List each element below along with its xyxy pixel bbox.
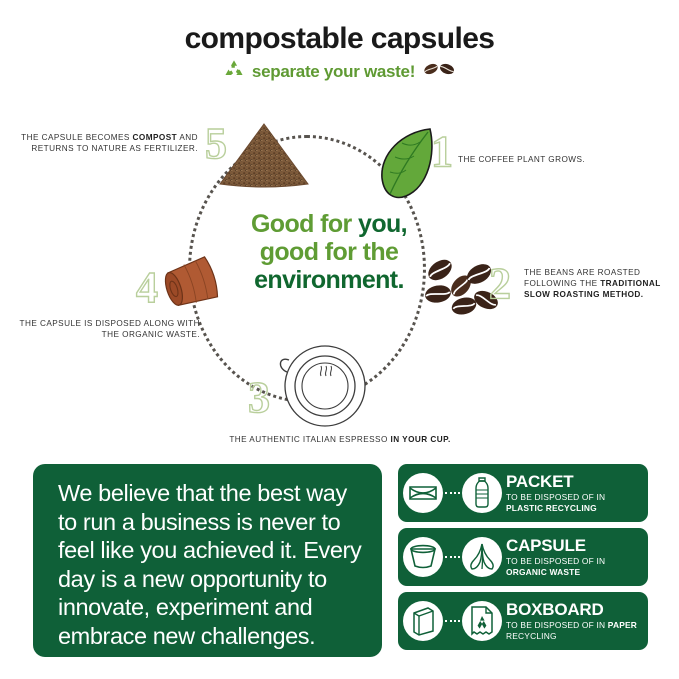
plastic-bottle-icon — [462, 473, 502, 513]
compost-mound-icon — [218, 122, 310, 193]
step-number-3: 3 — [248, 372, 270, 423]
header-subtitle-row: separate your waste! — [0, 59, 679, 84]
slogan-line3: environment. — [254, 266, 404, 294]
recycle-icon — [223, 59, 245, 84]
step-1-text: THE COFFEE PLANT GROWS. — [458, 154, 648, 165]
coffee-capsule-icon — [403, 537, 443, 577]
capsule-icon-pair — [398, 537, 506, 577]
slogan-line1-part2: you, — [358, 210, 407, 238]
center-slogan: Good for you, good for the environment. — [236, 210, 422, 294]
espresso-cup-icon — [275, 338, 371, 435]
page-title: compostable capsules — [0, 22, 679, 56]
capsule-title: CAPSULE — [506, 537, 642, 554]
step-3-text: THE AUTHENTIC ITALIAN ESPRESSO IN YOUR C… — [190, 434, 490, 445]
step-number-2: 2 — [489, 258, 511, 309]
leaf-icon — [376, 126, 438, 207]
dashed-connector — [445, 556, 460, 558]
packet-icon-pair — [398, 473, 506, 513]
header: compostable capsules separate your waste… — [0, 22, 679, 84]
capsule-subtitle: TO BE DISPOSED OF IN ORGANIC WASTE — [506, 556, 642, 577]
dashed-connector — [445, 620, 460, 622]
quote-panel: We believe that the best way to run a bu… — [33, 464, 382, 657]
banana-peel-icon — [462, 537, 502, 577]
slogan-line2: good for the — [260, 238, 399, 266]
coffee-capsule-icon — [160, 252, 224, 319]
slogan-line1-part1: Good for — [251, 210, 358, 238]
boxboard-icon-pair — [398, 601, 506, 641]
step-number-1: 1 — [431, 126, 453, 177]
disposal-card-packet[interactable]: PACKET TO BE DISPOSED OF IN PLASTIC RECY… — [398, 464, 648, 522]
step-number-5: 5 — [205, 118, 227, 169]
packet-title: PACKET — [506, 473, 642, 490]
capsule-card-text: CAPSULE TO BE DISPOSED OF IN ORGANIC WAS… — [506, 537, 648, 577]
quote-text: We believe that the best way to run a bu… — [58, 479, 363, 650]
boxboard-title: BOXBOARD — [506, 601, 642, 618]
lifecycle-diagram: Good for you, good for the environment. … — [0, 100, 679, 455]
infographic-page: compostable capsules separate your waste… — [0, 0, 679, 679]
step-2-text: THE BEANS ARE ROASTED FOLLOWING THE TRAD… — [524, 267, 674, 300]
step-5-text: THE CAPSULE BECOMES COMPOST AND RETURNS … — [18, 132, 198, 154]
boxboard-subtitle: TO BE DISPOSED OF IN PAPER RECYCLING — [506, 620, 642, 641]
coffee-beans-icon — [422, 59, 456, 84]
header-subtitle: separate your waste! — [252, 62, 415, 82]
dashed-connector — [445, 492, 460, 494]
paper-recycle-icon — [462, 601, 502, 641]
disposal-card-boxboard[interactable]: BOXBOARD TO BE DISPOSED OF IN PAPER RECY… — [398, 592, 648, 650]
disposal-card-capsule[interactable]: CAPSULE TO BE DISPOSED OF IN ORGANIC WAS… — [398, 528, 648, 586]
packet-pouch-icon — [403, 473, 443, 513]
step-4-text: THE CAPSULE IS DISPOSED ALONG WITH THE O… — [10, 318, 200, 340]
packet-card-text: PACKET TO BE DISPOSED OF IN PLASTIC RECY… — [506, 473, 648, 513]
boxboard-box-icon — [403, 601, 443, 641]
packet-subtitle: TO BE DISPOSED OF IN PLASTIC RECYCLING — [506, 492, 642, 513]
disposal-cards: PACKET TO BE DISPOSED OF IN PLASTIC RECY… — [398, 464, 648, 656]
boxboard-card-text: BOXBOARD TO BE DISPOSED OF IN PAPER RECY… — [506, 601, 648, 641]
step-number-4: 4 — [136, 262, 158, 313]
